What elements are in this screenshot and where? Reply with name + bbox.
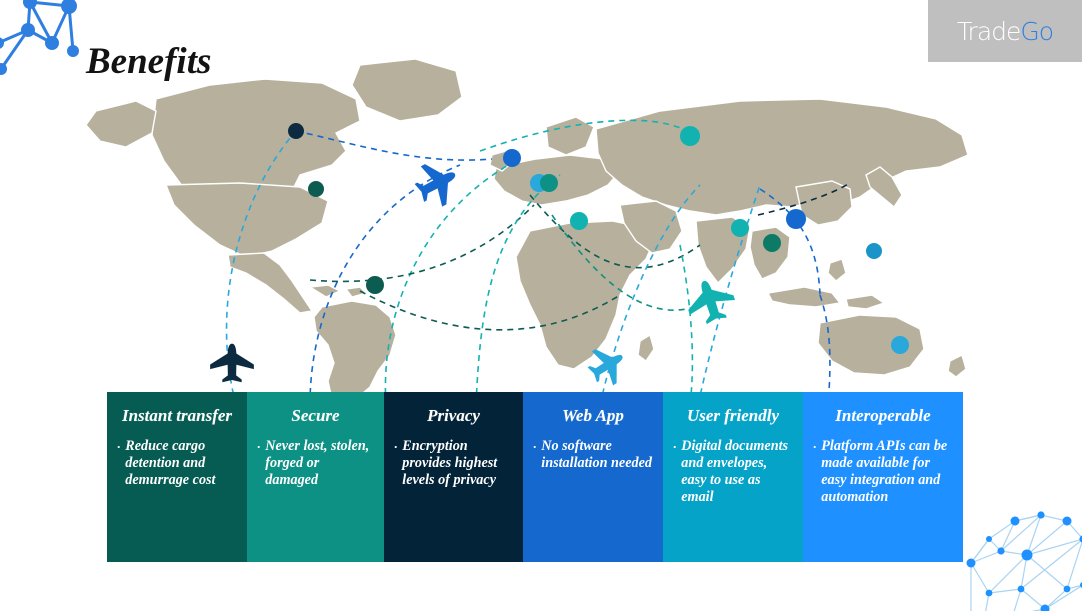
benefit-title: Web App [533, 406, 653, 426]
plane-sea-icon [681, 274, 739, 329]
benefit-bullet-text: Platform APIs can be made available for … [821, 438, 953, 506]
benefit-card-interoperable[interactable]: Interoperable · Platform APIs can be mad… [803, 392, 963, 562]
map-dot-russia [680, 126, 700, 146]
benefit-bullet: · Digital documents and envelopes, easy … [673, 438, 793, 506]
map-dot-egypt [570, 212, 588, 230]
bullet-marker-icon: · [533, 438, 536, 472]
brand-name-second: Go [1020, 17, 1053, 46]
benefit-card-instant-transfer[interactable]: Instant transfer · Reduce cargo detentio… [107, 392, 247, 562]
map-dot-uk [503, 149, 521, 167]
bullet-marker-icon: · [117, 438, 120, 489]
benefit-card-web-app[interactable]: Web App · No software installation neede… [523, 392, 663, 562]
map-dot-japan [866, 243, 882, 259]
plane-atlantic-icon [409, 154, 466, 213]
map-landmasses [86, 59, 968, 405]
benefit-bullet-text: No software installation needed [541, 438, 653, 472]
benefit-card-privacy[interactable]: Privacy · Encryption provides highest le… [384, 392, 523, 562]
benefit-bullet-text: Never lost, stolen, forged or damaged [265, 438, 374, 489]
benefit-title: Instant transfer [117, 406, 237, 426]
world-map-svg [60, 55, 1020, 405]
network-dome-graphic [955, 495, 1082, 611]
bullet-marker-icon: · [394, 438, 397, 489]
world-map [60, 55, 1020, 405]
benefit-bullet: · Platform APIs can be made available fo… [813, 438, 953, 506]
brand-name-first: Trade [957, 17, 1020, 46]
benefit-bullet: · No software installation needed [533, 438, 653, 472]
bullet-marker-icon: · [813, 438, 816, 506]
benefit-card-secure[interactable]: Secure · Never lost, stolen, forged or d… [247, 392, 384, 562]
map-dot-usa-east [308, 181, 324, 197]
benefit-title: Secure [257, 406, 374, 426]
benefit-bullet-text: Digital documents and envelopes, easy to… [681, 438, 793, 506]
map-dot-india [731, 219, 749, 237]
map-dot-australia [891, 336, 909, 354]
benefit-card-user-friendly[interactable]: User friendly · Digital documents and en… [663, 392, 803, 562]
map-dot-china [786, 209, 806, 229]
bullet-marker-icon: · [673, 438, 676, 506]
benefit-bullet-text: Encryption provides highest levels of pr… [402, 438, 513, 489]
map-dot-canada [288, 123, 304, 139]
benefit-bullet-text: Reduce cargo detention and demurrage cos… [125, 438, 237, 489]
brand-logo: TradeGo [928, 0, 1082, 62]
benefit-bullet: · Never lost, stolen, forged or damaged [257, 438, 374, 489]
plane-bottom-left-icon [210, 344, 254, 383]
benefit-title: Interoperable [813, 406, 953, 426]
benefit-title: User friendly [673, 406, 793, 426]
map-dot-south-america [366, 276, 384, 294]
benefit-bullet: · Reduce cargo detention and demurrage c… [117, 438, 237, 489]
benefit-bullet: · Encryption provides highest levels of … [394, 438, 513, 489]
map-dot-myanmar [763, 234, 781, 252]
benefit-title: Privacy [394, 406, 513, 426]
map-dot-central-europe [540, 174, 558, 192]
slide-canvas: Benefits TradeGo [0, 0, 1082, 611]
bullet-marker-icon: · [257, 438, 260, 489]
benefits-strip: Instant transfer · Reduce cargo detentio… [107, 392, 963, 562]
